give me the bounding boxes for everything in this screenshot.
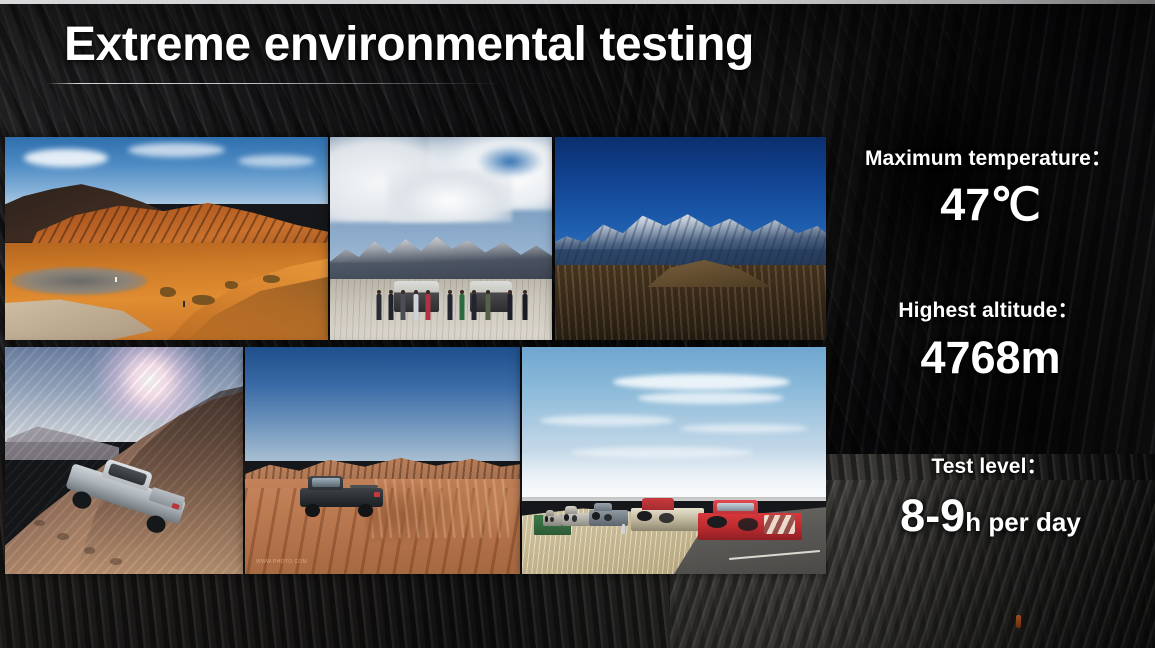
team-member — [483, 286, 492, 320]
photo-watermark: WWW.PHOTO.COM — [256, 559, 307, 565]
presentation-slide: Extreme environmental testing — [0, 0, 1155, 648]
stat-value: 4768m — [826, 334, 1155, 382]
stat-value-number: 8-9 — [900, 490, 965, 541]
stat-value: 47℃ — [826, 181, 1155, 229]
test-vehicle-pickup — [300, 474, 383, 515]
vehicle-cab — [565, 506, 577, 513]
wheel — [738, 518, 759, 531]
stat-value-unit: h per day — [965, 507, 1081, 537]
team-member — [411, 286, 420, 320]
stat-maximum-temperature: Maximum temperature： 47℃ — [826, 142, 1155, 229]
team-member — [387, 286, 396, 320]
convoy-vehicle-camo — [631, 508, 704, 531]
photo-pickup-climbing-sand-dune — [5, 347, 243, 574]
distant-person — [115, 277, 117, 282]
desert-shrub — [263, 275, 279, 283]
stat-label: Test level： — [826, 450, 1155, 480]
cirrus-cloud — [613, 374, 789, 390]
team-member — [458, 286, 467, 320]
blue-sky-gap — [477, 145, 544, 177]
photo-team-with-trucks-snow-peaks — [330, 137, 552, 340]
cirrus-cloud — [638, 392, 784, 403]
stat-label: Highest altitude： — [826, 294, 1155, 324]
wheel — [305, 504, 320, 518]
bed-rack — [350, 485, 378, 488]
photo-snow-capped-mountain-range — [555, 137, 826, 340]
convoy-vehicle — [543, 515, 561, 526]
sand-texture — [5, 347, 243, 574]
team-member — [445, 286, 454, 320]
tail-light — [374, 492, 380, 497]
dust-streaks — [372, 479, 510, 538]
horizon-haze — [522, 451, 826, 501]
vehicle-windows — [312, 478, 340, 487]
statistics-panel: Maximum temperature： 47℃ Highest altitud… — [826, 120, 1155, 590]
vehicle-cab — [642, 498, 674, 510]
wheel — [659, 513, 674, 523]
camouflage-wrap — [764, 515, 795, 534]
team-member — [399, 286, 408, 320]
team-member — [505, 286, 514, 320]
footprints — [84, 547, 96, 554]
team-member — [374, 286, 383, 320]
team-member — [521, 286, 530, 320]
convoy-vehicle — [562, 513, 589, 527]
vehicle-cab — [594, 503, 611, 511]
photo-red-rock-desert-plain — [5, 137, 328, 340]
roadside-person — [622, 524, 625, 534]
wheel — [358, 504, 373, 518]
stat-label: Maximum temperature： — [826, 142, 1155, 172]
photo-pickup-dust-plume-desert: WWW.PHOTO.COM — [245, 347, 520, 574]
vehicle-windows — [717, 503, 754, 511]
wheel — [545, 516, 549, 521]
desert-shrub — [225, 281, 238, 289]
wheel — [572, 515, 577, 521]
photo-test-vehicle-convoy-highway — [522, 347, 826, 574]
vehicle-cab — [546, 510, 554, 516]
wheel — [564, 514, 569, 520]
sky — [245, 347, 520, 461]
wheel — [604, 514, 612, 521]
stat-value: 8-9h per day — [826, 492, 1155, 540]
wheel — [637, 511, 652, 521]
distant-person — [183, 301, 185, 307]
wheel — [592, 512, 600, 519]
footprints — [110, 558, 122, 565]
photo-collage: WWW.PHOTO.COM — [0, 0, 860, 648]
team-member — [470, 286, 479, 320]
stat-test-level: Test level： 8-9h per day — [826, 450, 1155, 540]
stat-highest-altitude: Highest altitude： 4768m — [826, 294, 1155, 382]
lead-vehicle-red-pickup — [698, 513, 801, 540]
ground-texture — [330, 279, 552, 340]
team-member — [423, 290, 432, 320]
